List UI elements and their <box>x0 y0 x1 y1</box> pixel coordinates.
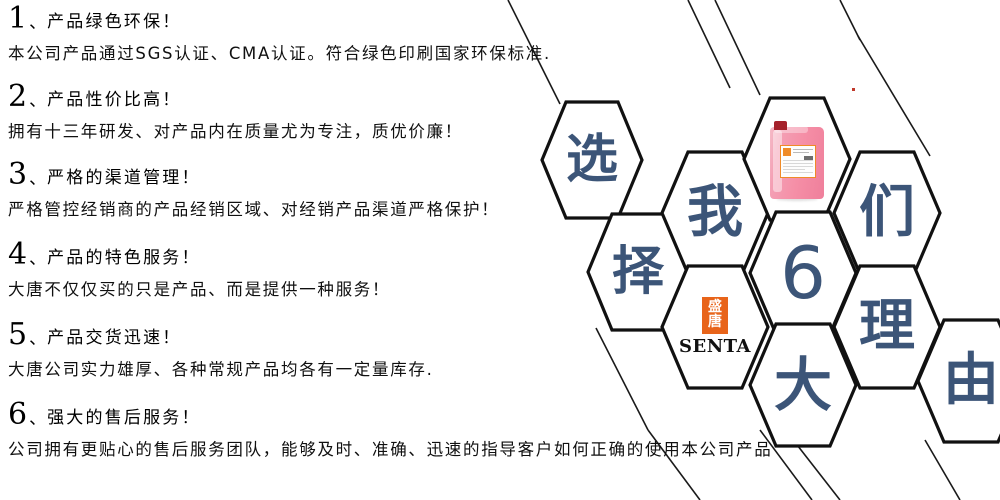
hex-cell-you[interactable]: 由 <box>916 318 1000 444</box>
hex-cell-men[interactable]: 们 <box>832 150 942 276</box>
hex-label: 们 <box>832 150 942 276</box>
hex-label: 选 <box>540 100 644 220</box>
honeycomb-cluster: 选 择 我 <box>0 0 1000 500</box>
logo-char-top: 盛 <box>708 300 722 315</box>
logo-char-bottom: 唐 <box>708 315 722 330</box>
hex-cell-xuan[interactable]: 选 <box>540 100 644 220</box>
hex-label: 由 <box>916 318 1000 444</box>
logo-wordmark: SENTA <box>679 336 751 357</box>
logo-seal-icon: 盛 唐 <box>702 297 728 334</box>
stray-red-speck <box>852 88 855 91</box>
jerrycan-icon <box>770 119 824 199</box>
product-label <box>780 145 816 178</box>
poster-canvas: 1 、 产品绿色环保！ 本公司产品通过SGS认证、CMA认证。符合绿色印刷国家环… <box>0 0 1000 500</box>
